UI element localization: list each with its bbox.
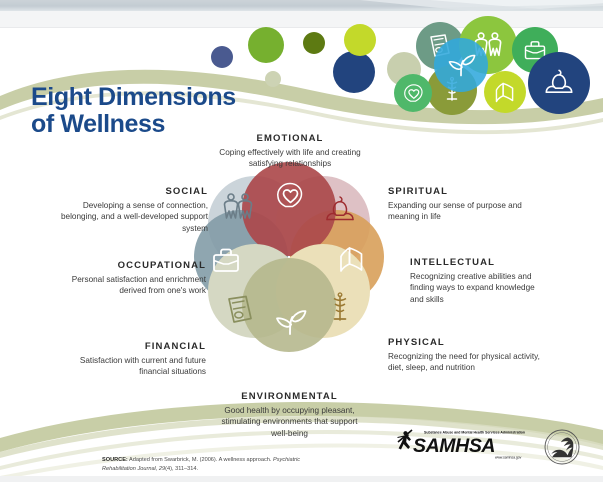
source-label: SOURCE:: [102, 457, 128, 463]
label-environmental-heading: ENVIRONMENTAL: [212, 391, 367, 404]
label-physical-heading: PHYSICAL: [388, 337, 543, 350]
label-financial-description: Satisfaction with current and future fin…: [58, 355, 206, 378]
slate-blue-dot: [211, 46, 233, 68]
label-spiritual-heading: SPIRITUAL: [388, 186, 538, 199]
title-line-2: of Wellness: [31, 110, 165, 138]
label-social-heading: SOCIAL: [52, 186, 208, 199]
samhsa-tagline: Substance Abuse and Mental Health Servic…: [424, 431, 525, 435]
label-occupational-description: Personal satisfaction and enrichment der…: [62, 274, 206, 297]
label-spiritual: SPIRITUAL Expanding our sense of purpose…: [388, 186, 538, 223]
label-emotional-description: Coping effectively with life and creatin…: [216, 147, 364, 170]
pale-sage-dot: [265, 71, 281, 87]
source-text-after: (4), 311–314.: [165, 466, 198, 472]
label-environmental: ENVIRONMENTAL Good health by occupying p…: [212, 391, 367, 440]
label-physical: PHYSICAL Recognizing the need for physic…: [388, 337, 543, 374]
title-line-1: Eight Dimensions: [31, 83, 236, 111]
label-spiritual-description: Expanding our sense of purpose and meani…: [388, 200, 538, 223]
hhs-seal-logo: [544, 429, 580, 465]
label-intellectual-description: Recognizing creative abilities and findi…: [410, 271, 550, 306]
samhsa-logo: Substance Abuse and Mental Health Servic…: [396, 428, 536, 464]
source-citation: SOURCE: Adapted from Swarbrick, M. (2006…: [102, 456, 332, 474]
label-physical-description: Recognizing the need for physical activi…: [388, 351, 543, 374]
label-emotional: EMOTIONAL Coping effectively with life a…: [216, 133, 364, 170]
label-financial: FINANCIAL Satisfaction with current and …: [58, 341, 206, 378]
label-social: SOCIAL Developing a sense of connection,…: [52, 186, 208, 235]
label-financial-heading: FINANCIAL: [58, 341, 206, 354]
label-intellectual: INTELLECTUAL Recognizing creative abilit…: [410, 257, 550, 306]
olive-dot: [303, 32, 325, 54]
wellness-wheel: [194, 162, 384, 352]
label-occupational-heading: OCCUPATIONAL: [62, 260, 206, 273]
label-intellectual-heading: INTELLECTUAL: [410, 257, 550, 270]
samhsa-wordmark: SAMHSA: [413, 435, 495, 457]
label-emotional-heading: EMOTIONAL: [216, 133, 364, 146]
page-title: Eight Dimensionsof Wellness: [31, 84, 236, 138]
label-environmental-description: Good health by occupying pleasant, stimu…: [212, 405, 367, 440]
wheel-circle-emotional: [242, 162, 336, 256]
infographic-page: Eight Dimensionsof Wellness: [0, 0, 603, 482]
hhs-eagle-icon: [552, 438, 574, 458]
samhsa-url: www.samhsa.gov: [495, 456, 522, 460]
book-circle: [484, 71, 526, 113]
label-social-description: Developing a sense of connection, belong…: [52, 200, 208, 235]
navy-dot: [333, 51, 375, 93]
meditate-circle: [528, 52, 590, 114]
yellow-green-dot: [344, 24, 376, 56]
wheel-circle-environmental: [242, 258, 336, 352]
heart-circle: [394, 74, 432, 112]
bottom-edge-band: [0, 476, 603, 482]
label-occupational: OCCUPATIONAL Personal satisfaction and e…: [62, 260, 206, 297]
source-text-before: Adapted from Swarbrick, M. (2006). A wel…: [128, 457, 273, 463]
green-dot: [248, 27, 284, 63]
